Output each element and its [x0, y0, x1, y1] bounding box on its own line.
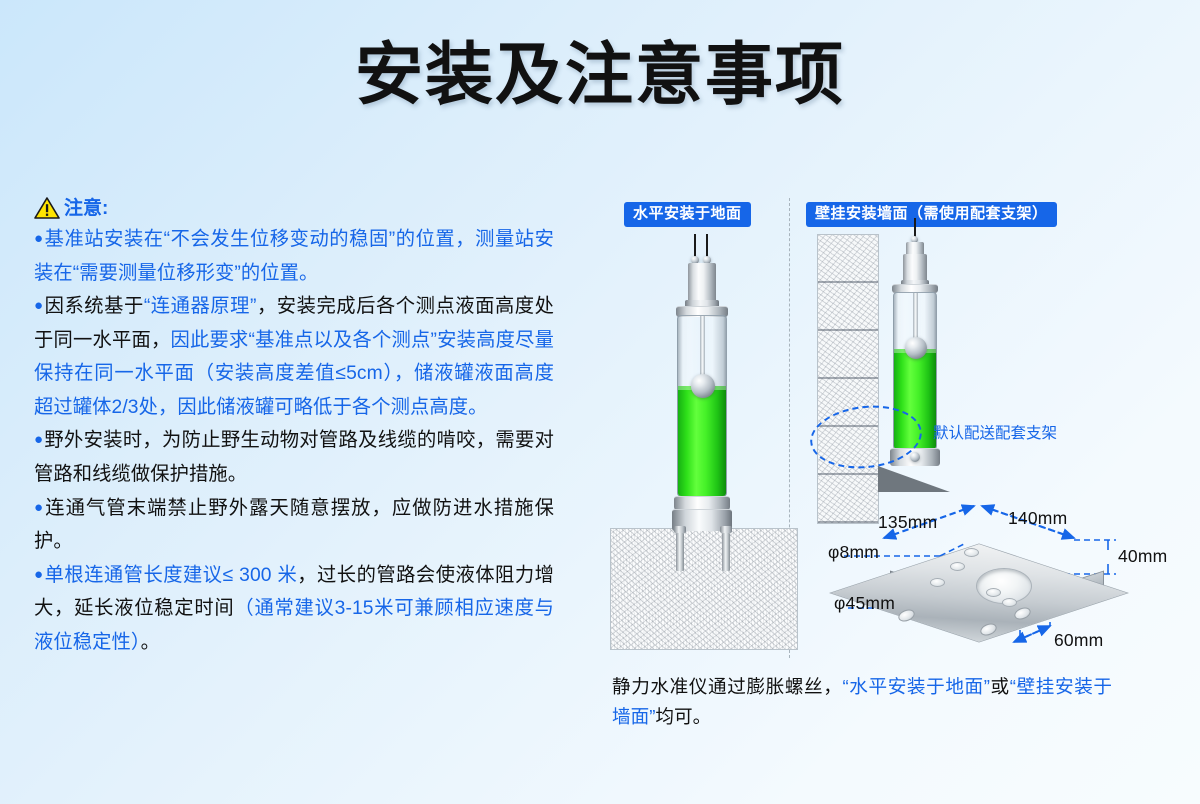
dim-hole-small: φ8mm [828, 542, 879, 563]
note-bullet-icon: ● [34, 230, 44, 247]
wall-base-screw [910, 452, 920, 462]
bracket-callout-label: 默认配送配套支架 [933, 421, 1057, 443]
note-item: ●连通气管末端禁止野外露天随意摆放，应做防进水措施保护。 [34, 492, 554, 559]
notes-heading: 注意: [34, 196, 554, 220]
text-run: 野外安装时，为防止野生动物对管路及线缆的啃咬，需要对管路和线缆做保护措施。 [34, 430, 554, 485]
poster-root: 安装及注意事项 注意: ●基准站安装在“不会发生位移变动的稳固”的位置，测量站安… [0, 0, 1200, 804]
note-bullet-icon: ● [34, 566, 44, 583]
dim-width-right: 140mm [1008, 508, 1067, 529]
anchor-bolt-head-right [720, 526, 732, 533]
notes-list: ●基准站安装在“不会发生位移变动的稳固”的位置，测量站安装在“需要测量位移形变”… [34, 223, 554, 659]
text-run: “连通器原理” [144, 296, 257, 317]
bottom-caption: 静力水准仪通过膨胀螺丝，“水平安装于地面”或“壁挂安装于墙面”均可。 [612, 672, 1112, 732]
note-bullet-icon: ● [34, 499, 44, 516]
text-run: 连通气管末端禁止野外露天随意摆放，应做防进水措施保护。 [34, 498, 554, 553]
text-run: 单根连通管长度建议≤ 300 米 [45, 565, 298, 586]
anchor-bolt-head-left [674, 526, 686, 533]
brick-wall [817, 234, 879, 524]
illustration-panel: 水平安装于地面 壁挂安装墙面（需使用配套支架） [588, 190, 1188, 750]
anchor-bolt-right [722, 533, 730, 571]
text-run: “水平安装于地面” [842, 676, 989, 697]
dim-thickness: 40mm [1118, 546, 1167, 567]
warning-triangle-icon [34, 196, 60, 220]
concrete-slab [610, 528, 798, 650]
glass-reservoir [677, 315, 727, 497]
plate-hole-c [930, 578, 945, 587]
text-run: 或 [990, 676, 1010, 697]
wall-connector-head [903, 254, 927, 282]
notes-heading-label: 注意: [64, 199, 108, 218]
text-run: 静力水准仪通过膨胀螺丝， [612, 676, 842, 697]
dim-hole-spacing: 60mm [1054, 630, 1103, 651]
wall-float-ball [905, 337, 927, 359]
text-run: 因系统基于 [45, 296, 144, 317]
note-item: ●基准站安装在“不会发生位移变动的稳固”的位置，测量站安装在“需要测量位移形变”… [34, 223, 554, 290]
anchor-bolt-left [676, 533, 684, 571]
plate-hole-b [950, 562, 965, 571]
note-item: ●野外安装时，为防止野生动物对管路及线缆的啃咬，需要对管路和线缆做保护措施。 [34, 424, 554, 491]
notes-panel: 注意: ●基准站安装在“不会发生位移变动的稳固”的位置，测量站安装在“需要测量位… [34, 196, 554, 659]
page-title: 安装及注意事项 [0, 36, 1200, 114]
text-run: 基准站安装在“不会发生位移变动的稳固”的位置，测量站安装在“需要测量位移形变”的… [34, 229, 554, 284]
float-ball [691, 374, 715, 398]
dim-hole-big: φ45mm [834, 593, 895, 614]
note-bullet-icon: ● [34, 297, 44, 314]
wall-mount-bracket [878, 466, 950, 492]
text-run: 均可。 [655, 706, 711, 727]
note-item: ●单根连通管长度建议≤ 300 米，过长的管路会使液体阻力增大，延长液位稳定时间… [34, 559, 554, 660]
base-flange-upper [674, 496, 730, 510]
dim-width-left: 135mm [878, 512, 937, 533]
green-liquid [678, 386, 726, 496]
tag-ground-install: 水平安装于地面 [624, 202, 751, 227]
note-bullet-icon: ● [34, 431, 43, 448]
plate-hole-a [964, 548, 979, 557]
connector-head [688, 263, 716, 302]
text-run: 。 [141, 632, 160, 653]
plate-hole-e [986, 588, 1001, 597]
device-ground-install-illustration [624, 234, 784, 654]
note-item: ●因系统基于“连通器原理”，安装完成后各个测点液面高度处于同一水平面，因此要求“… [34, 290, 554, 424]
plate-hole-d [1002, 598, 1017, 607]
bracket-dimension-drawing: 135mm 140mm φ8mm φ45mm 40mm 60mm [868, 490, 1188, 680]
